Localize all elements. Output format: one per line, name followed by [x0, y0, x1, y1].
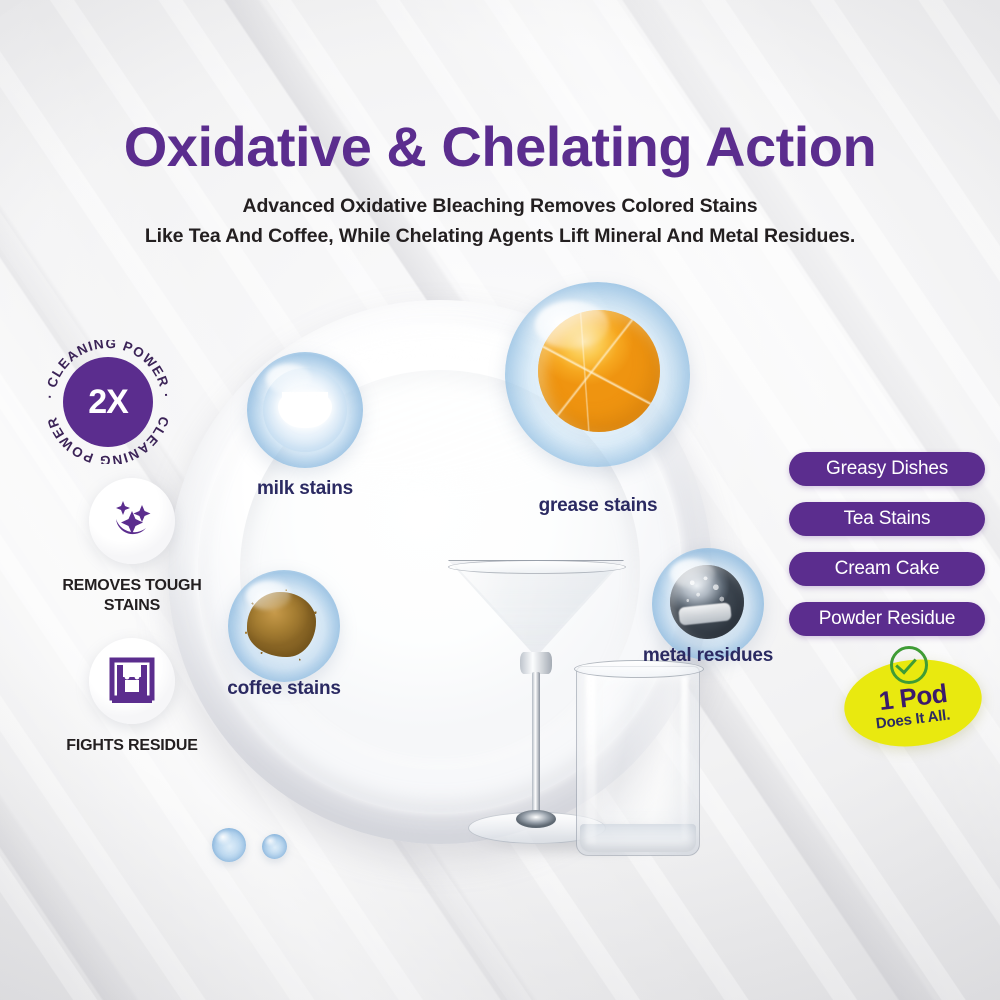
feature-label-removes-tough-stains: REMOVES TOUGH STAINS	[34, 576, 230, 616]
page-subtitle: Advanced Oxidative Bleaching Removes Col…	[0, 191, 1000, 251]
martini-foot-core	[516, 810, 556, 828]
tumbler-highlight-right	[681, 676, 688, 840]
header: Oxidative & Chelating Action Advanced Ox…	[0, 118, 1000, 251]
cleaning-power-badge: · CLEANING POWER · CLEANING POWER 2X	[46, 340, 170, 464]
check-circle-icon	[890, 646, 928, 684]
cleaning-power-value: 2X	[63, 357, 153, 447]
sparkle-smile-icon	[106, 495, 158, 547]
tumbler-base	[580, 824, 696, 852]
infographic-canvas: Oxidative & Chelating Action Advanced Ox…	[0, 0, 1000, 1000]
pill-cream-cake[interactable]: Cream Cake	[789, 552, 985, 586]
page-title: Oxidative & Chelating Action	[0, 118, 1000, 177]
bubble-gloss	[266, 364, 312, 394]
martini-bowl-inner	[454, 564, 618, 652]
stain-label-metal: metal residues	[600, 645, 816, 667]
feature-icon-circle	[89, 638, 175, 724]
martini-rim	[448, 560, 626, 574]
feature-fights-residue: FIGHTS RESIDUE	[34, 638, 230, 756]
stain-bubble-grease	[505, 282, 690, 467]
benefit-pill-list: Greasy Dishes Tea Stains Cream Cake Powd…	[789, 452, 985, 652]
subtitle-line-2: Like Tea And Coffee, While Chelating Age…	[0, 221, 1000, 251]
decor-bubble-icon	[262, 834, 287, 859]
stain-bubble-milk	[247, 352, 363, 468]
pill-tea-stains[interactable]: Tea Stains	[789, 502, 985, 536]
one-pod-badge: 1 Pod Does It All.	[844, 660, 982, 746]
pill-greasy-dishes[interactable]: Greasy Dishes	[789, 452, 985, 486]
tumbler-highlight-left	[586, 674, 596, 844]
bubble-gloss	[246, 581, 291, 610]
feature-icon-circle	[89, 478, 175, 564]
feature-label-fights-residue: FIGHTS RESIDUE	[34, 736, 230, 756]
tumbler-glass	[576, 666, 700, 856]
martini-knot	[520, 652, 552, 674]
stain-bubble-coffee	[228, 570, 340, 682]
stain-label-grease: grease stains	[490, 495, 706, 517]
pill-powder-residue[interactable]: Powder Residue	[789, 602, 985, 636]
subtitle-line-1: Advanced Oxidative Bleaching Removes Col…	[0, 191, 1000, 221]
dishwasher-icon	[106, 655, 158, 707]
martini-stem	[532, 672, 540, 820]
stain-bubble-metal	[652, 548, 764, 660]
bubble-gloss	[535, 301, 609, 349]
decor-bubble-icon	[212, 828, 246, 862]
bubble-gloss	[670, 559, 715, 588]
feature-removes-tough-stains: REMOVES TOUGH STAINS	[34, 478, 230, 616]
